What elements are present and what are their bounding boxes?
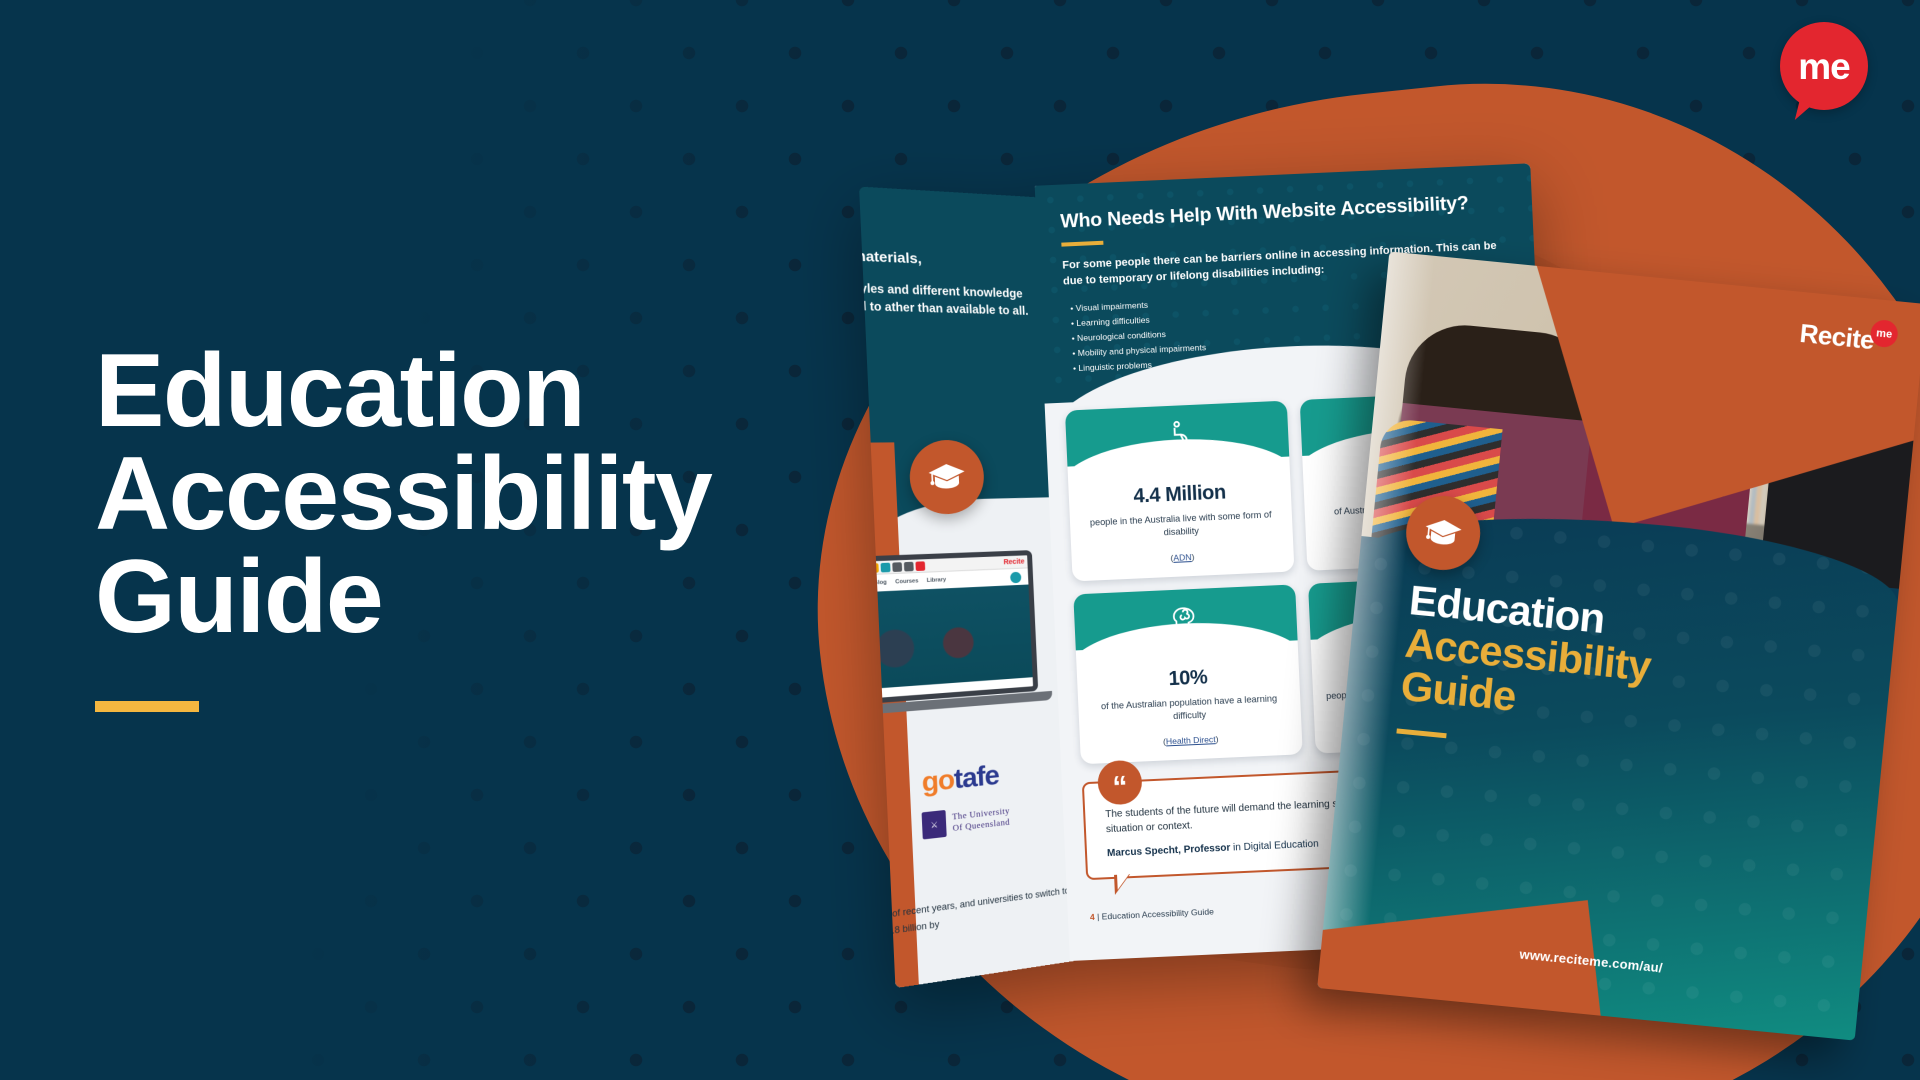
hero-block: Education Accessibility Guide	[95, 340, 815, 712]
speech-bubble-icon: me	[1780, 22, 1868, 110]
poster-canvas: Education Accessibility Guide me erting …	[0, 0, 1920, 1080]
stat-card-icon-area	[1065, 401, 1289, 467]
stat-description: of the Australian population have a lear…	[1090, 692, 1289, 728]
gotafe-tafe: tafe	[953, 759, 999, 794]
uq-wordmark: The University Of Queensland	[952, 806, 1011, 834]
graduation-cap-icon	[1422, 515, 1465, 551]
nav-search-icon[interactable]	[1010, 571, 1021, 583]
stat-card-icon-area	[1073, 584, 1297, 650]
hero-title-line-1: Education	[95, 333, 584, 449]
toolbar-icon-8	[915, 561, 925, 571]
reciteme-logo[interactable]: me	[1780, 22, 1868, 110]
gotafe-go: go	[921, 764, 955, 798]
graduation-cap-badge	[1403, 493, 1484, 574]
stat-card: 10% of the Australian population have a …	[1073, 584, 1302, 765]
footer-title: Education Accessibility Guide	[1102, 907, 1215, 922]
stat-card: 4.4 Million people in the Australia live…	[1065, 401, 1294, 582]
right-page-gold-rule	[1061, 241, 1103, 247]
toolbar-icon-7	[904, 561, 914, 571]
stat-description: people in the Australia live with some f…	[1082, 508, 1281, 544]
stat-source: (Health Direct)	[1092, 731, 1290, 750]
footer-page-number: 4	[1090, 912, 1095, 922]
hero-title-line-3: Guide	[95, 539, 382, 655]
src-close: )	[1215, 734, 1218, 744]
laptop-screen: Recite Research Blog Courses Library	[859, 550, 1038, 707]
hero-title-line-2: Accessibility	[95, 436, 711, 552]
hero-gold-rule	[95, 701, 199, 712]
toolbar-icon-5	[881, 562, 891, 572]
quote-mark-icon: “	[1097, 760, 1143, 806]
footer-separator: |	[1097, 912, 1100, 922]
stat-source: (ADN)	[1084, 548, 1282, 567]
src-close: )	[1191, 552, 1194, 562]
left-page-text: erting materials, arning styles and diff…	[859, 243, 1047, 321]
right-page-heading: Who Needs Help With Website Accessibilit…	[1060, 190, 1511, 233]
nav-item-2[interactable]: Courses	[895, 578, 918, 585]
quote-author-name: Marcus Specht, Professor	[1107, 843, 1231, 860]
quote-tail-inner-icon	[1117, 875, 1130, 891]
graduation-cap-badge	[908, 438, 985, 515]
brochure-cover: Recite me Education Accessibility Guide …	[1317, 251, 1920, 1040]
page-title: Education Accessibility Guide	[95, 340, 815, 649]
nav-item-3[interactable]: Library	[927, 577, 947, 584]
website-hero-image	[859, 585, 1032, 692]
brain-icon	[1170, 602, 1201, 631]
toolbar-icon-6	[892, 562, 902, 572]
stat-source-link[interactable]: Health Direct	[1166, 735, 1216, 747]
left-page-body-fragment: arning styles and different knowledge th…	[859, 281, 1029, 317]
laptop-mockup: Recite Research Blog Courses Library	[859, 549, 1069, 739]
toolbar-brand-label: Recite	[1003, 558, 1024, 566]
logo-text: me	[1798, 48, 1849, 85]
uq-crest-icon: ⚔	[922, 810, 947, 840]
quote-author-role: in Digital Education	[1230, 839, 1319, 854]
wheelchair-icon	[1162, 419, 1191, 448]
stat-source-link[interactable]: ADN	[1173, 552, 1192, 563]
cover-body: Education Accessibility Guide www.recite…	[1317, 496, 1903, 1040]
graduation-cap-icon	[926, 460, 967, 494]
